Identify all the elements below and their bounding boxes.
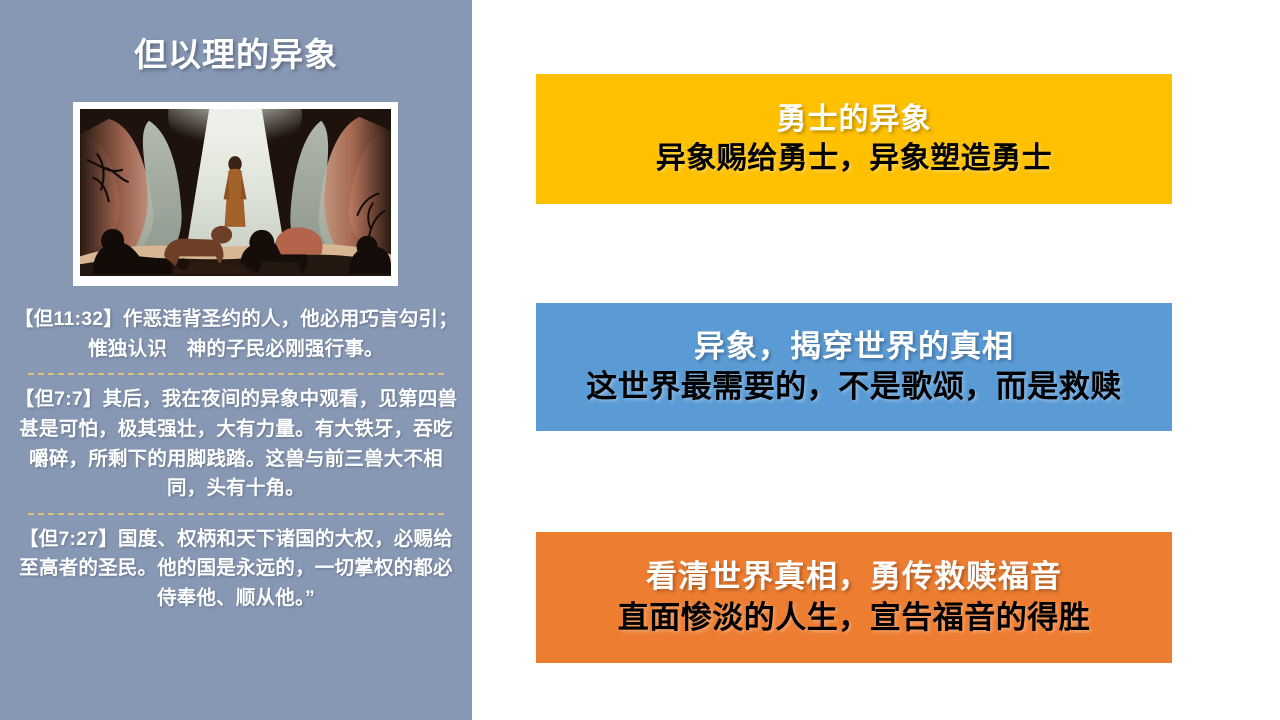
- panel-subtitle: 直面惨淡的人生，宣告福音的得胜: [618, 599, 1091, 637]
- scripture-verse: 【但7:27】国度、权柄和天下诸国的大权，必赐给至高者的圣民。他的国是永远的，一…: [10, 522, 462, 617]
- presentation-slide: 但以理的异象: [0, 0, 1280, 720]
- verse-divider: [28, 373, 444, 375]
- content-panel-vision-of-the-warrior: 勇士的异象 异象赐给勇士，异象塑造勇士: [536, 74, 1172, 204]
- illustration-frame: [73, 102, 398, 286]
- content-panel-vision-reveals-truth: 异象，揭穿世界的真相 这世界最需要的，不是歌颂，而是救赎: [536, 303, 1172, 431]
- scripture-verse: 【但7:7】其后，我在夜间的异象中观看，见第四兽甚是可怕，极其强壮，大有力量。有…: [10, 382, 462, 507]
- panel-subtitle: 异象赐给勇士，异象塑造勇士: [656, 140, 1053, 177]
- page-title: 但以理的异象: [0, 36, 472, 74]
- panel-heading: 勇士的异象: [777, 101, 932, 138]
- scripture-list: 【但11:32】作恶违背圣约的人，他必用巧言勾引；惟独认识 神的子民必刚强行事。…: [0, 302, 472, 617]
- verse-divider: [28, 513, 444, 515]
- panel-subtitle: 这世界最需要的，不是歌颂，而是救赎: [586, 368, 1122, 406]
- scripture-verse: 【但11:32】作恶违背圣约的人，他必用巧言勾引；惟独认识 神的子民必刚强行事。: [10, 302, 462, 367]
- daniel-lions-den-image: [80, 109, 391, 276]
- sidebar-panel: 但以理的异象: [0, 0, 472, 720]
- panel-heading: 看清世界真相，勇传救赎福音: [646, 558, 1062, 596]
- daniel-lions-den-illustration: [80, 109, 391, 276]
- panel-heading: 异象，揭穿世界的真相: [694, 328, 1014, 366]
- content-panel-proclaim-the-gospel: 看清世界真相，勇传救赎福音 直面惨淡的人生，宣告福音的得胜: [536, 532, 1172, 663]
